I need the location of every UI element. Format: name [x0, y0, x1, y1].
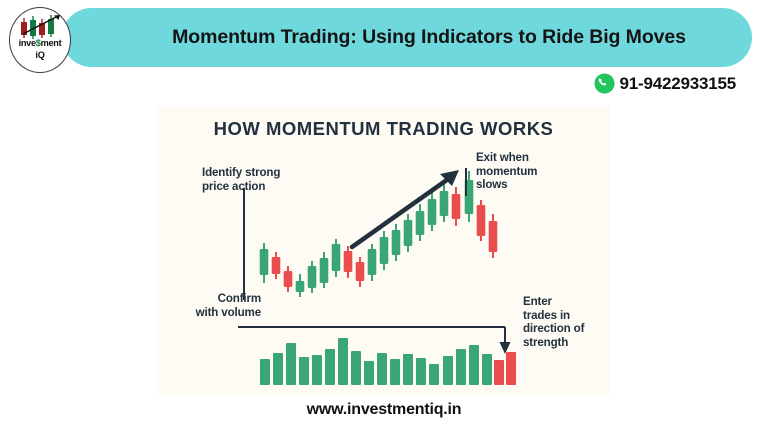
candle-body	[272, 257, 281, 274]
volume-series	[260, 338, 516, 385]
logo-text-line2: iQ	[10, 50, 70, 60]
volume-bar	[351, 351, 361, 385]
candle-body	[320, 258, 329, 283]
volume-bar	[390, 359, 400, 385]
volume-bar	[312, 355, 322, 385]
candlestick-series	[260, 171, 498, 297]
volume-bar	[377, 353, 387, 385]
volume-bar	[260, 359, 270, 385]
volume-bar	[469, 345, 479, 385]
annotation-exit: Exit when momentum slows	[476, 151, 537, 192]
candle-body	[260, 249, 269, 275]
annotation-enter-line1: Enter	[523, 295, 584, 309]
candle-body	[332, 244, 341, 271]
candle-body	[356, 262, 365, 281]
annotation-exit-line1: Exit when	[476, 151, 537, 165]
volume-bar	[325, 349, 335, 385]
candle-body	[416, 211, 425, 235]
candle-body	[344, 251, 353, 272]
volume-bar	[364, 361, 374, 385]
volume-bar	[416, 358, 426, 385]
candle-body	[404, 220, 413, 246]
poster-root: Momentum Trading: Using Indicators to Ri…	[0, 0, 768, 432]
annotation-identify-line1: Identify strong	[202, 166, 280, 180]
candle-body	[489, 221, 498, 252]
whatsapp-icon[interactable]	[594, 73, 615, 94]
annotation-enter-line3: direction of	[523, 322, 584, 336]
annotation-identify: Identify strong price action	[202, 166, 280, 193]
annotation-exit-line3: slows	[476, 178, 537, 192]
candle-body	[368, 249, 377, 275]
volume-bar	[299, 357, 309, 385]
volume-bar	[494, 360, 504, 385]
volume-bar	[286, 343, 296, 385]
volume-bar	[506, 352, 516, 385]
annotation-enter: Enter trades in direction of strength	[523, 295, 584, 349]
candle-body	[308, 266, 317, 288]
candle-body	[452, 194, 461, 219]
volume-bar	[443, 356, 453, 385]
annotation-identify-line2: price action	[202, 180, 280, 194]
annotation-enter-line4: strength	[523, 336, 584, 350]
volume-bar	[338, 338, 348, 385]
candle-body	[284, 271, 293, 287]
header-banner: Momentum Trading: Using Indicators to Ri…	[62, 8, 752, 67]
candle-body	[428, 199, 437, 225]
website-url[interactable]: www.investmentiq.in	[0, 401, 768, 419]
candle-body	[380, 237, 389, 264]
annotation-confirm-line2: with volume	[177, 306, 261, 320]
contact-row[interactable]: 91-9422933155	[594, 73, 736, 94]
page-title: Momentum Trading: Using Indicators to Ri…	[128, 26, 686, 49]
annotation-exit-line2: momentum	[476, 165, 537, 179]
volume-bar	[273, 353, 283, 385]
candle-body	[440, 191, 449, 216]
volume-bar	[429, 364, 439, 385]
candle-body	[296, 281, 305, 292]
annotation-confirm: Confirm with volume	[177, 292, 261, 319]
logo-text-line1: inve$ment	[10, 38, 70, 49]
annotation-confirm-line1: Confirm	[177, 292, 261, 306]
investment-iq-logo[interactable]: inve$ment iQ	[9, 7, 71, 73]
momentum-chart-graphic	[157, 106, 610, 395]
phone-number[interactable]: 91-9422933155	[619, 74, 736, 94]
chart-panel: HOW MOMENTUM TRADING WORKS Identify stro…	[157, 106, 610, 395]
volume-bar	[403, 354, 413, 385]
candle-body	[392, 230, 401, 255]
volume-bar	[482, 354, 492, 385]
volume-bar	[456, 349, 466, 385]
annotation-enter-line2: trades in	[523, 309, 584, 323]
candle-body	[477, 205, 486, 236]
